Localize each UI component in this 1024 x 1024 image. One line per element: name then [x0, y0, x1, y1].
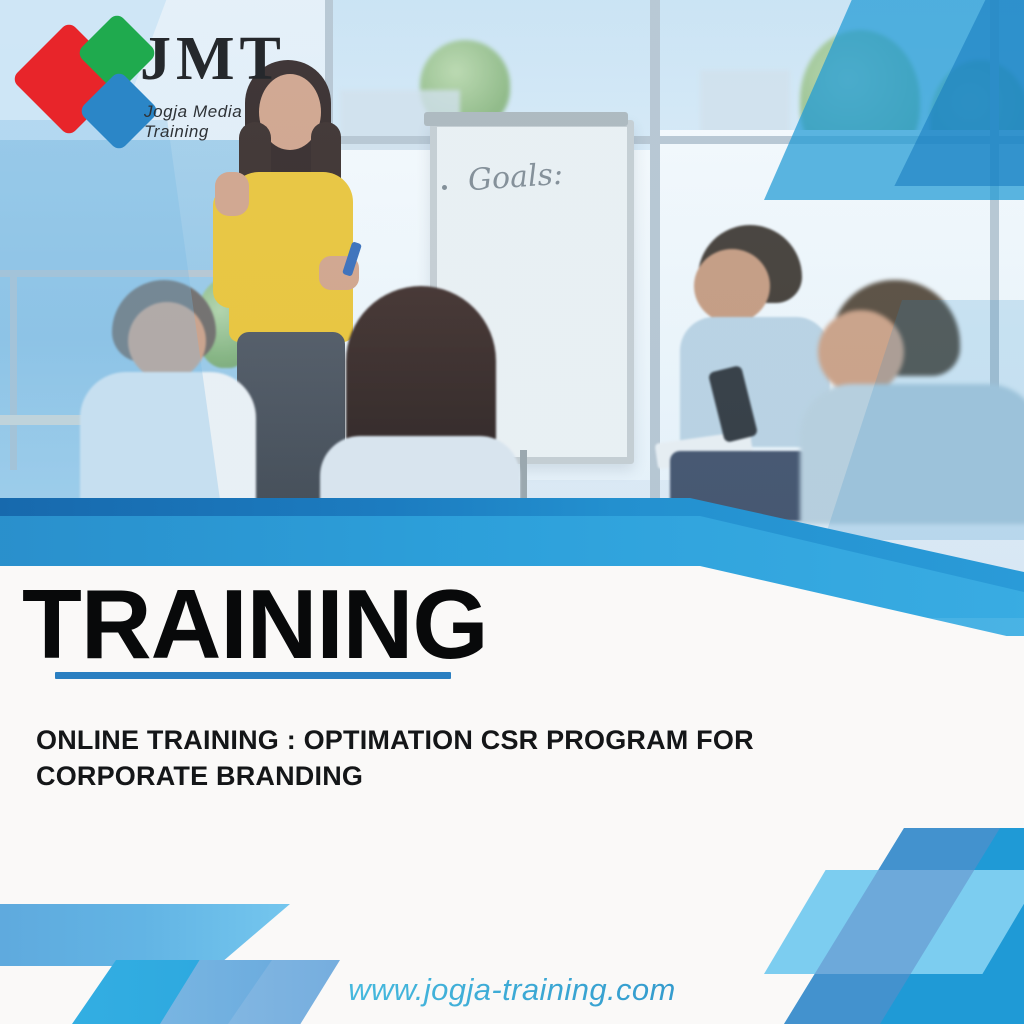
page-title: TRAINING	[22, 575, 488, 673]
promo-poster: Goals:	[0, 0, 1024, 1024]
website-url[interactable]: www.jogja-training.com	[0, 972, 1024, 1008]
brand-wordmark: JMT	[140, 28, 286, 90]
brand-tagline: Jogja Media Training	[144, 102, 312, 142]
brand-logo[interactable]: JMT Jogja Media Training	[12, 10, 312, 130]
subtitle: ONLINE TRAINING : OPTIMATION CSR PROGRAM…	[36, 722, 896, 794]
title-underline	[55, 672, 451, 679]
